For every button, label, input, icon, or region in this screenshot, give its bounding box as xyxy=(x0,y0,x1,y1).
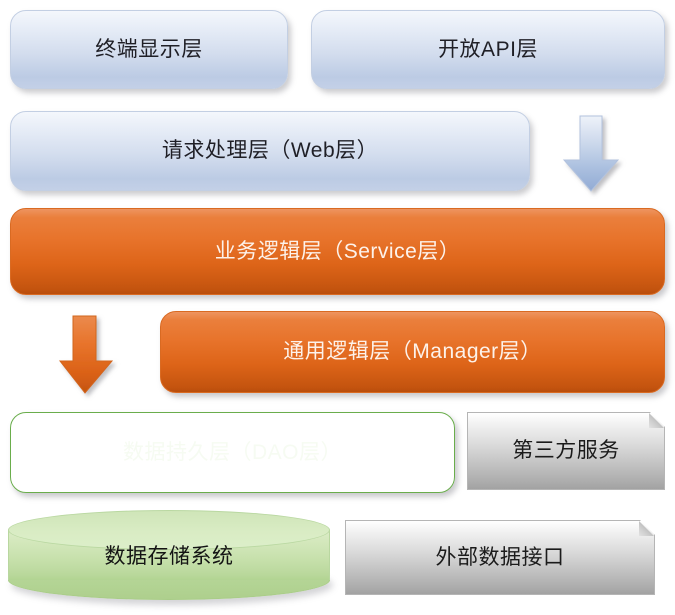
node-external-data-interface[interactable]: 外部数据接口 xyxy=(345,520,655,595)
node-label: 通用逻辑层（Manager层） xyxy=(283,339,541,364)
node-open-api-layer[interactable]: 开放API层 xyxy=(311,10,665,89)
node-label: 数据存储系统 xyxy=(8,540,330,570)
down-arrow-icon-blue xyxy=(560,116,622,193)
folded-corner-icon xyxy=(649,413,664,428)
node-terminal-display-layer[interactable]: 终端显示层 xyxy=(10,10,288,89)
node-dao-layer[interactable]: 数据持久层（DAO层） xyxy=(10,412,455,493)
node-manager-layer[interactable]: 通用逻辑层（Manager层） xyxy=(160,311,665,393)
node-label: 外部数据接口 xyxy=(436,545,565,570)
down-arrow-icon-orange xyxy=(58,316,115,395)
node-label: 业务逻辑层（Service层） xyxy=(215,239,461,264)
node-label: 终端显示层 xyxy=(95,37,203,62)
node-service-layer[interactable]: 业务逻辑层（Service层） xyxy=(10,208,665,295)
node-label: 第三方服务 xyxy=(512,438,620,463)
node-third-party-service[interactable]: 第三方服务 xyxy=(467,412,665,490)
folded-corner-icon xyxy=(639,521,654,536)
node-data-storage-system[interactable]: 数据存储系统 xyxy=(8,510,330,600)
node-web-layer[interactable]: 请求处理层（Web层） xyxy=(10,111,530,191)
node-label: 请求处理层（Web层） xyxy=(162,138,378,163)
node-label: 开放API层 xyxy=(438,37,538,62)
node-label: 数据持久层（DAO层） xyxy=(123,440,342,465)
architecture-diagram: 终端显示层 开放API层 请求处理层（Web层） 业 xyxy=(0,0,675,615)
